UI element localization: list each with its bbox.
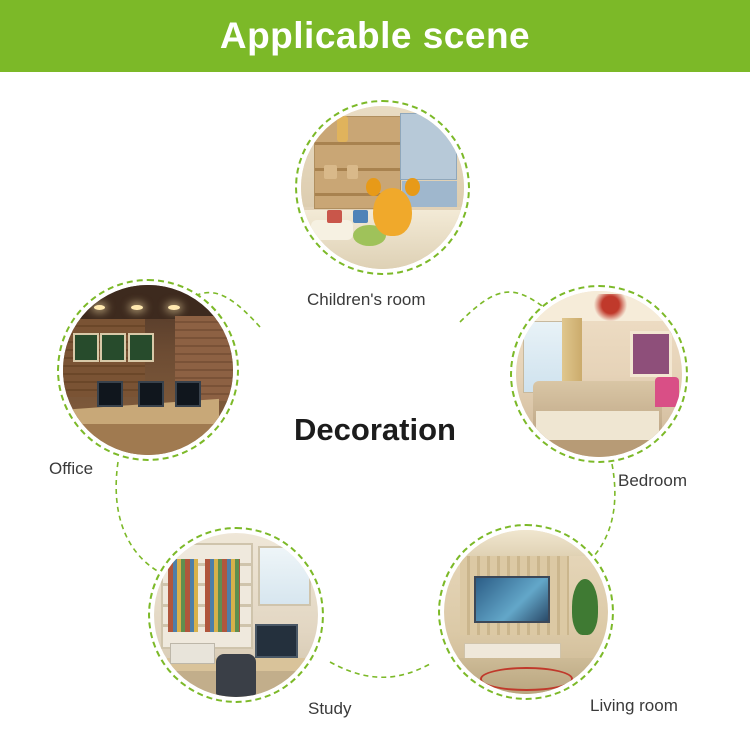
scene-label-bedroom: Bedroom — [618, 471, 687, 491]
center-label: Decoration — [255, 412, 495, 448]
office-circle — [57, 279, 239, 461]
study-photo — [154, 533, 318, 697]
living-room-photo — [444, 530, 608, 694]
scene-node-office[interactable]: Office — [57, 279, 239, 461]
scene-node-living-room[interactable]: Living room — [438, 524, 614, 700]
scene-diagram: Children's room Bedroom — [0, 72, 750, 750]
scene-node-study[interactable]: Study — [148, 527, 324, 703]
bedroom-photo — [516, 291, 682, 457]
scene-label-study: Study — [308, 699, 351, 719]
header-banner: Applicable scene — [0, 0, 750, 72]
page-title: Applicable scene — [220, 15, 530, 57]
office-photo — [63, 285, 233, 455]
living-room-circle — [438, 524, 614, 700]
study-circle — [148, 527, 324, 703]
childrens-room-circle — [295, 100, 470, 275]
scene-node-childrens-room[interactable]: Children's room — [295, 100, 470, 275]
page-root: Applicable scene — [0, 0, 750, 750]
childrens-room-photo — [301, 106, 464, 269]
scene-label-office: Office — [49, 459, 93, 479]
scene-label-living-room: Living room — [590, 696, 678, 716]
scene-label-childrens-room: Children's room — [307, 290, 426, 310]
scene-node-bedroom[interactable]: Bedroom — [510, 285, 688, 463]
bedroom-circle — [510, 285, 688, 463]
